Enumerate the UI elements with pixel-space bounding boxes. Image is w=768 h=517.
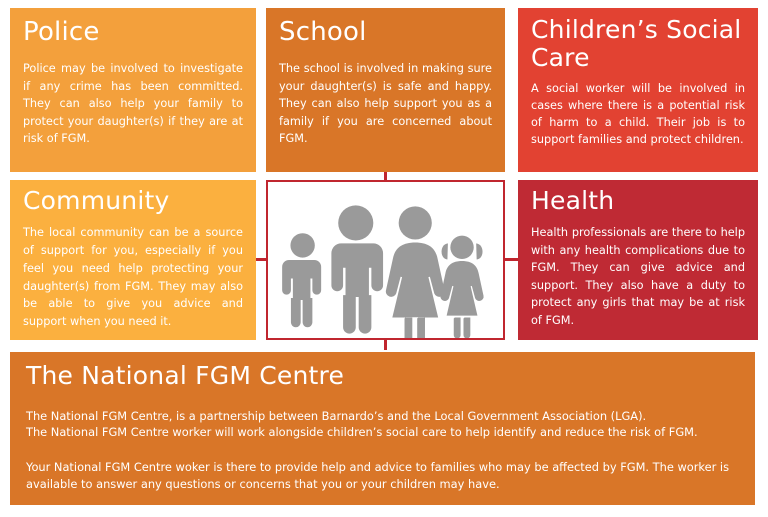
- panel-health-body: Health professionals are there to help w…: [531, 224, 745, 329]
- panel-national-fgm-centre-paragraph-2: Your National FGM Centre woker is there …: [26, 459, 739, 491]
- panel-school-body: The school is involved in making sure yo…: [279, 60, 492, 148]
- family-of-four-silhouettes: [268, 182, 503, 338]
- panel-national-fgm-centre-title: The National FGM Centre: [26, 362, 739, 390]
- panel-school: School The school is involved in making …: [266, 8, 505, 172]
- panel-childrens-social-care-body: A social worker will be involved in case…: [531, 80, 745, 149]
- infographic-canvas: Police Police may be involved to investi…: [0, 0, 768, 517]
- family-illustration-box: [266, 180, 505, 340]
- panel-community-title: Community: [23, 187, 243, 215]
- panel-childrens-social-care-title: Children’s Social Care: [531, 16, 745, 72]
- centre-paragraph-1-line-1: The National FGM Centre, is a partnershi…: [26, 409, 646, 423]
- panel-childrens-social-care: Children’s Social Care A social worker w…: [518, 8, 758, 172]
- boy-icon: [282, 233, 321, 327]
- panel-health: Health Health professionals are there to…: [518, 180, 758, 340]
- panel-police: Police Police may be involved to investi…: [10, 8, 256, 172]
- panel-national-fgm-centre: The National FGM Centre The National FGM…: [10, 352, 755, 505]
- panel-police-body: Police may be involved to investigate if…: [23, 60, 243, 148]
- centre-paragraph-1-line-2: The National FGM Centre worker will work…: [26, 425, 698, 439]
- panel-community-body: The local community can be a source of s…: [23, 224, 243, 331]
- panel-national-fgm-centre-paragraph-1: The National FGM Centre, is a partnershi…: [26, 408, 739, 440]
- connector-line-right: [503, 258, 518, 261]
- panel-community: Community The local community can be a s…: [10, 180, 256, 340]
- panel-school-title: School: [279, 18, 492, 47]
- man-icon: [331, 205, 383, 333]
- girl-icon: [440, 236, 483, 338]
- panel-police-title: Police: [23, 18, 243, 47]
- panel-health-title: Health: [531, 187, 745, 215]
- woman-icon: [386, 206, 445, 338]
